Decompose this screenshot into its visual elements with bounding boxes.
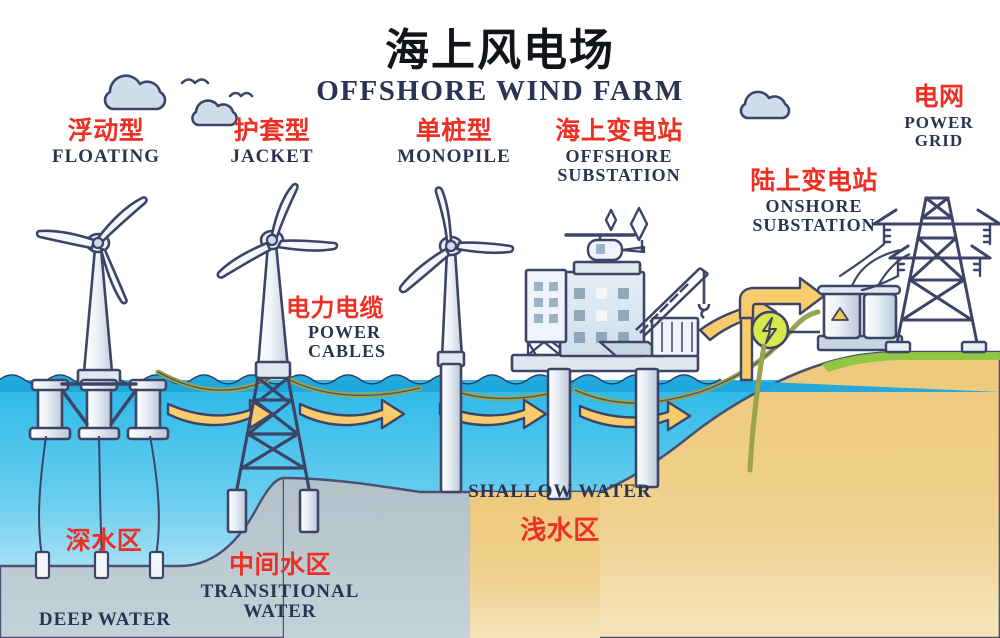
zone-transitional-water-en1: TRANSITIONAL <box>196 582 364 602</box>
label-monopile-cn: 单桩型 <box>374 118 534 144</box>
label-floating-en: FLOATING <box>22 147 190 167</box>
zone-deep-water-en: DEEP WATER <box>20 610 190 630</box>
label-onshore-substation: 陆上变电站 ONSHORE SUBSTATION <box>714 168 914 235</box>
page-title-cn: 海上风电场 <box>0 14 1000 78</box>
zone-shallow-water: SHALLOW WATER <box>440 482 680 502</box>
zone-deep-water-en-wrap: DEEP WATER <box>20 610 190 630</box>
zone-transitional-water-cn: 中间水区 <box>196 552 364 578</box>
label-power-grid-cn: 电网 <box>880 84 998 110</box>
label-power-cables-en2: CABLES <box>308 342 422 361</box>
label-floating-cn: 浮动型 <box>22 118 190 144</box>
label-offshore-substation: 海上变电站 OFFSHORE SUBSTATION <box>526 118 712 185</box>
label-power-grid-en2: GRID <box>880 132 998 150</box>
label-power-grid: 电网 POWER GRID <box>880 84 998 150</box>
label-onshore-substation-cn: 陆上变电站 <box>714 168 914 194</box>
zone-shallow-water-cn: 浅水区 <box>470 518 650 545</box>
lightning-bolt-icon <box>752 312 788 348</box>
label-jacket: 护套型 JACKET <box>196 118 348 167</box>
label-jacket-en: JACKET <box>196 147 348 167</box>
label-power-cables-en1: POWER <box>308 323 422 342</box>
page-title-en: OFFSHORE WIND FARM <box>0 75 1000 108</box>
zone-shallow-water-cn-wrap: 浅水区 <box>470 518 650 545</box>
zone-deep-water: 深水区 <box>24 528 184 554</box>
label-monopile: 单桩型 MONOPILE <box>374 118 534 167</box>
zone-transitional-water: 中间水区 TRANSITIONAL WATER <box>196 552 364 622</box>
zone-transitional-water-en2: WATER <box>196 602 364 622</box>
label-onshore-substation-en2: SUBSTATION <box>714 216 914 235</box>
label-power-cables: 电力电缆 POWER CABLES <box>286 296 422 361</box>
infographic-canvas: 海上风电场 OFFSHORE WIND FARM 浮动型 FLOATING 护套… <box>0 0 1000 638</box>
zone-shallow-water-en: SHALLOW WATER <box>440 482 680 502</box>
label-offshore-substation-cn: 海上变电站 <box>526 118 712 144</box>
label-onshore-substation-en1: ONSHORE <box>714 197 914 216</box>
zone-deep-water-cn: 深水区 <box>24 528 184 554</box>
label-power-grid-en1: POWER <box>880 114 998 132</box>
label-floating: 浮动型 FLOATING <box>22 118 190 167</box>
label-jacket-cn: 护套型 <box>196 118 348 144</box>
label-offshore-substation-en2: SUBSTATION <box>526 166 712 185</box>
label-monopile-en: MONOPILE <box>374 147 534 167</box>
label-power-cables-cn: 电力电缆 <box>286 296 422 321</box>
label-offshore-substation-en1: OFFSHORE <box>526 147 712 166</box>
helicopter-icon <box>566 235 644 262</box>
